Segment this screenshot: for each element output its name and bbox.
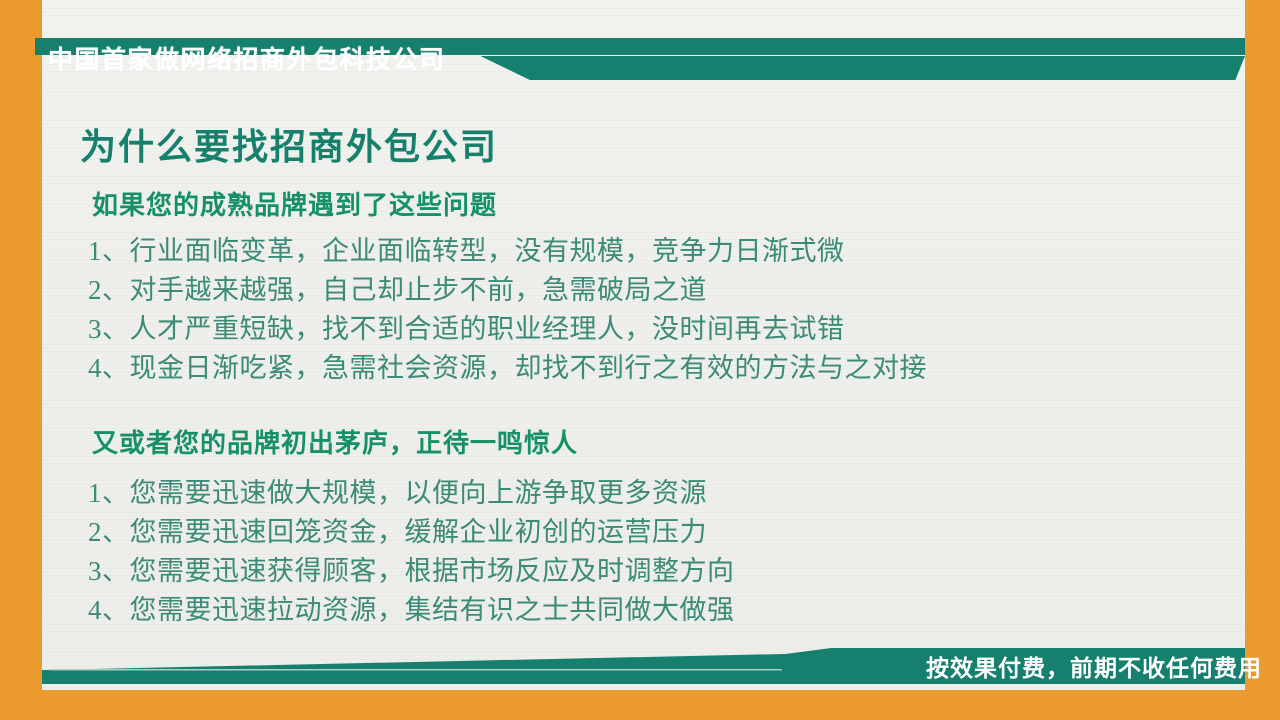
list-item: 3、您需要迅速获得顾客，根据市场反应及时调整方向 <box>88 552 735 591</box>
list-item: 3、人才严重短缺，找不到合适的职业经理人，没时间再去试错 <box>88 310 927 349</box>
list-item: 4、您需要迅速拉动资源，集结有识之士共同做大做强 <box>88 591 735 630</box>
list-item: 2、您需要迅速回笼资金，缓解企业初创的运营压力 <box>88 513 735 552</box>
list-item: 1、行业面临变革，企业面临转型，没有规模，竞争力日渐式微 <box>88 232 927 271</box>
page-title: 为什么要找招商外包公司 <box>80 118 498 170</box>
section-heading-mature-brand: 如果您的成熟品牌遇到了这些问题 <box>92 185 497 222</box>
header-title: 中国首家做网络招商外包科技公司 <box>48 40 446 80</box>
problem-list-mature-brand: 1、行业面临变革，企业面临转型，没有规模，竞争力日渐式微 2、对手越来越强，自己… <box>88 232 927 388</box>
list-item: 4、现金日渐吃紧，急需社会资源，却找不到行之有效的方法与之对接 <box>88 349 927 388</box>
footer-tagline: 按效果付费，前期不收任何费用 <box>926 650 1262 686</box>
section-heading-new-brand: 又或者您的品牌初出茅庐，正待一鸣惊人 <box>92 423 578 460</box>
list-item: 1、您需要迅速做大规模，以便向上游争取更多资源 <box>88 474 735 513</box>
problem-list-new-brand: 1、您需要迅速做大规模，以便向上游争取更多资源 2、您需要迅速回笼资金，缓解企业… <box>88 474 735 630</box>
list-item: 2、对手越来越强，自己却止步不前，急需破局之道 <box>88 271 927 310</box>
slide-root: 中国首家做网络招商外包科技公司 为什么要找招商外包公司 如果您的成熟品牌遇到了这… <box>0 0 1280 720</box>
